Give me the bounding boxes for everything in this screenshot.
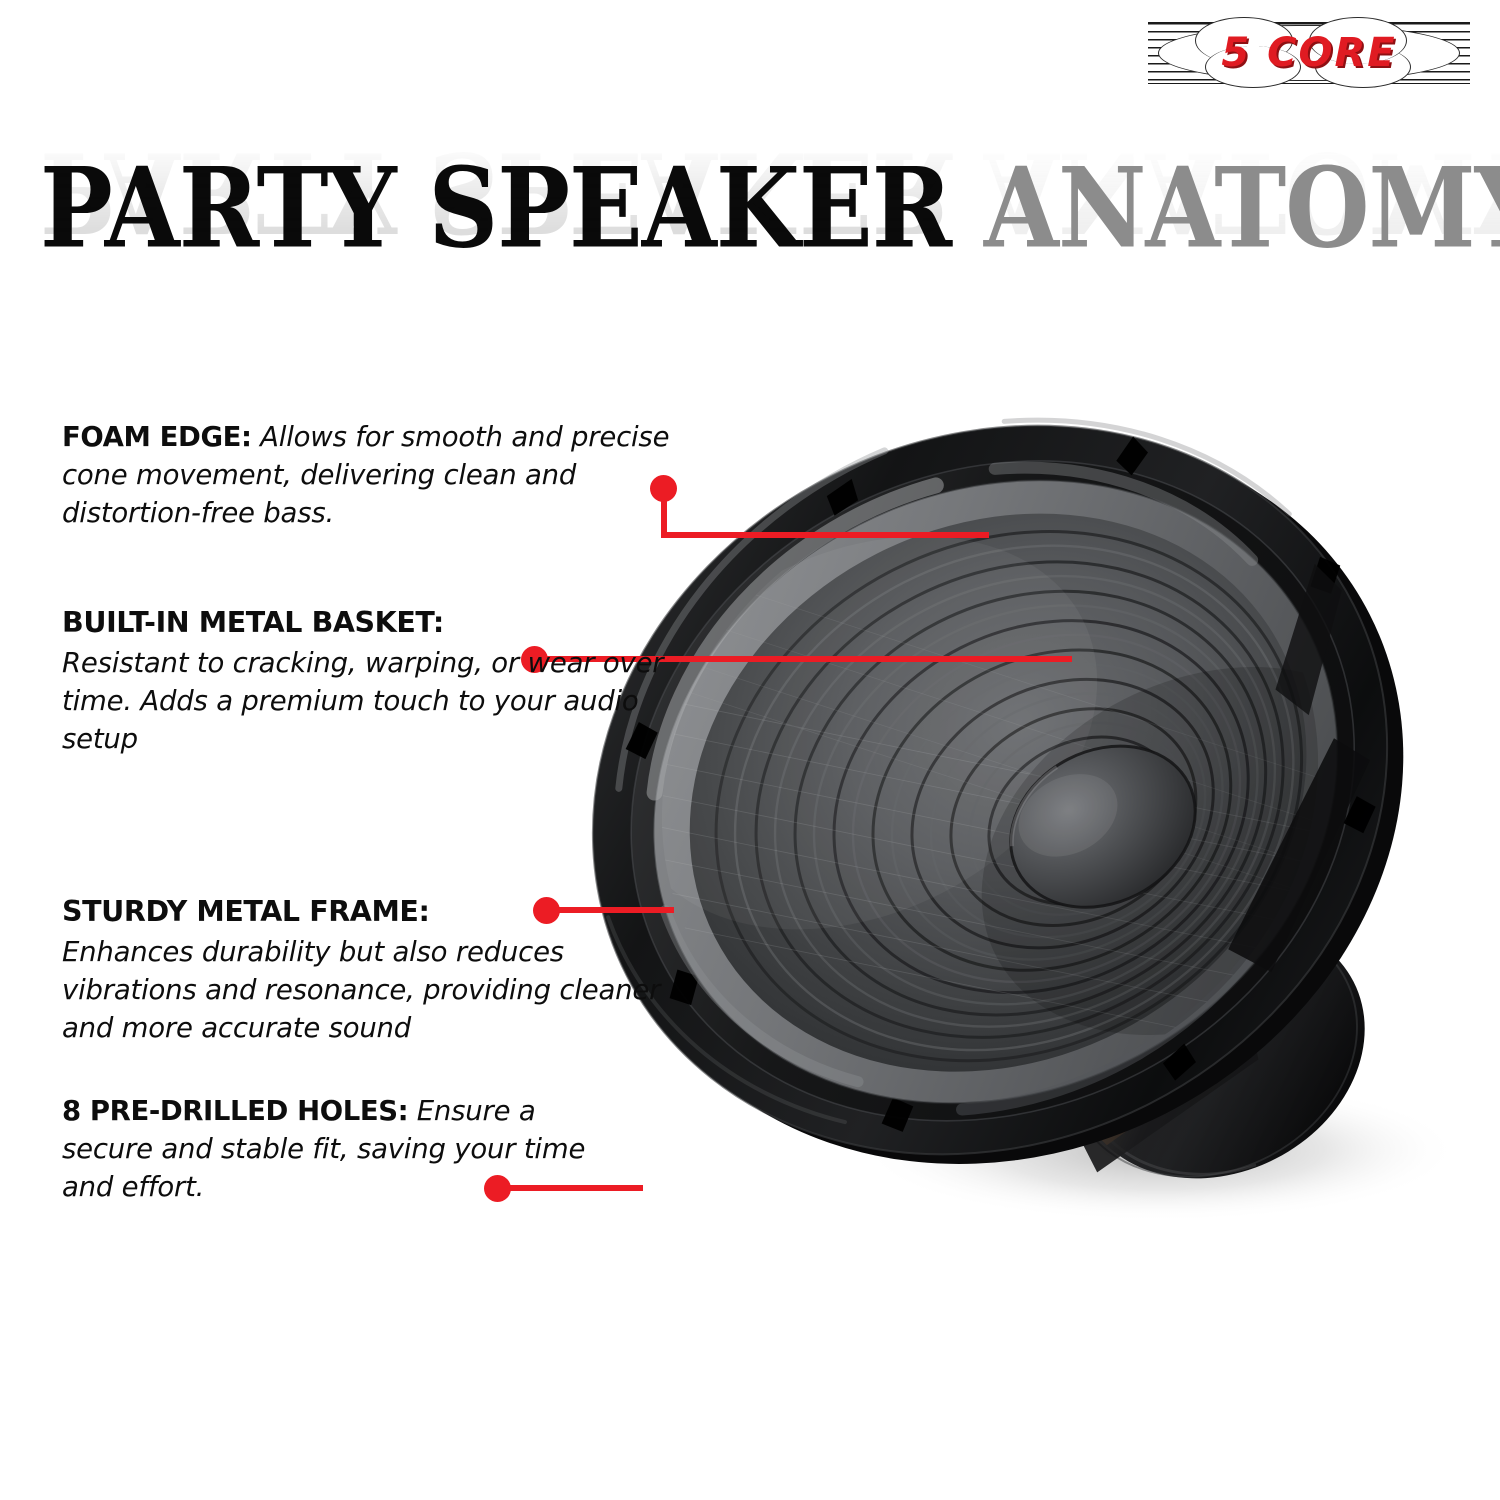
brand-logo-text: 5 CORE — [1148, 22, 1470, 84]
callout-foam-edge: FOAM EDGE: Allows for smooth and precise… — [62, 418, 702, 532]
callout-pre-drilled-holes: 8 PRE-DRILLED HOLES: Ensure a secure and… — [62, 1092, 622, 1206]
callout-metal-basket-body: Resistant to cracking, warping, or wear … — [62, 647, 663, 755]
brand-logo: 5 CORE — [1148, 22, 1470, 84]
callout-metal-frame: STURDY METAL FRAME:Enhances durability b… — [62, 893, 662, 1047]
infographic-page: { "brand": { "logo_text": "5 CORE", "log… — [0, 0, 1500, 1500]
callout-metal-frame-body: Enhances durability but also reduces vib… — [62, 936, 660, 1044]
callout-metal-basket-lead: BUILT-IN METAL BASKET: — [62, 604, 682, 642]
callout-metal-basket: BUILT-IN METAL BASKET:Resistant to crack… — [62, 604, 682, 758]
callout-foam-edge-lead: FOAM EDGE: — [62, 421, 252, 453]
callout-metal-frame-lead: STURDY METAL FRAME: — [62, 893, 662, 931]
callout-pre-drilled-holes-lead: 8 PRE-DRILLED HOLES: — [62, 1095, 408, 1127]
